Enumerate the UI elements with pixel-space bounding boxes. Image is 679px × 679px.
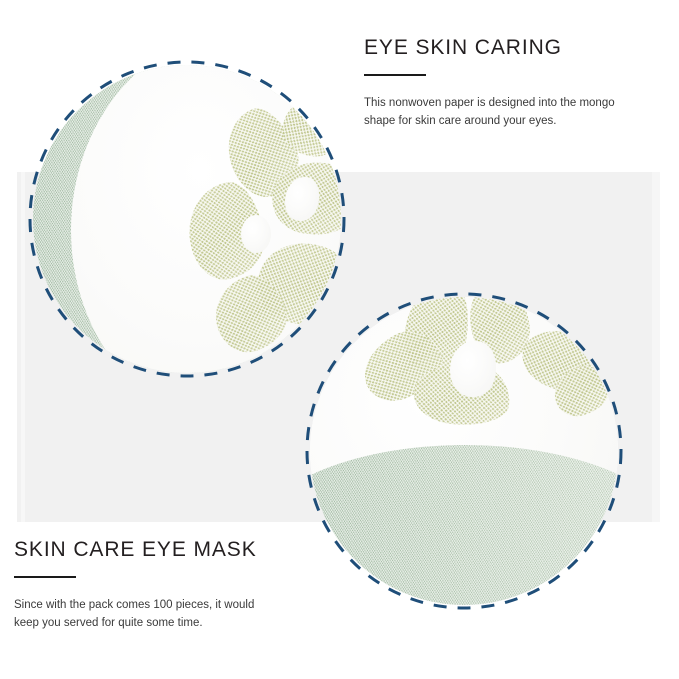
text-block-skin-care-eye-mask: SKIN CARE EYE MASK Since with the pack c…	[14, 538, 266, 633]
heading-rule-1	[364, 74, 426, 76]
mask-fiber-edge-2	[310, 445, 618, 605]
text-block-eye-skin-caring: EYE SKIN CARING This nonwoven paper is d…	[364, 36, 616, 131]
product-infographic: EYE SKIN CARING This nonwoven paper is d…	[0, 0, 679, 679]
heading-rule-2	[14, 576, 76, 578]
product-photo-1	[33, 65, 341, 373]
background-panel-right-seam	[652, 172, 660, 522]
product-photo-inset-2	[303, 290, 625, 612]
heading-eye-skin-caring: EYE SKIN CARING	[364, 36, 616, 59]
product-photo-inset-1	[26, 58, 348, 380]
leaf-gap-1b	[241, 215, 271, 253]
product-photo-2	[310, 297, 618, 605]
body-copy-eye-skin-caring: This nonwoven paper is designed into the…	[364, 95, 616, 131]
background-panel-left-seam	[21, 172, 25, 522]
heading-skin-care-eye-mask: SKIN CARE EYE MASK	[14, 538, 266, 561]
leaf-gap-2a	[450, 341, 496, 397]
body-copy-skin-care-eye-mask: Since with the pack comes 100 pieces, it…	[14, 597, 266, 633]
